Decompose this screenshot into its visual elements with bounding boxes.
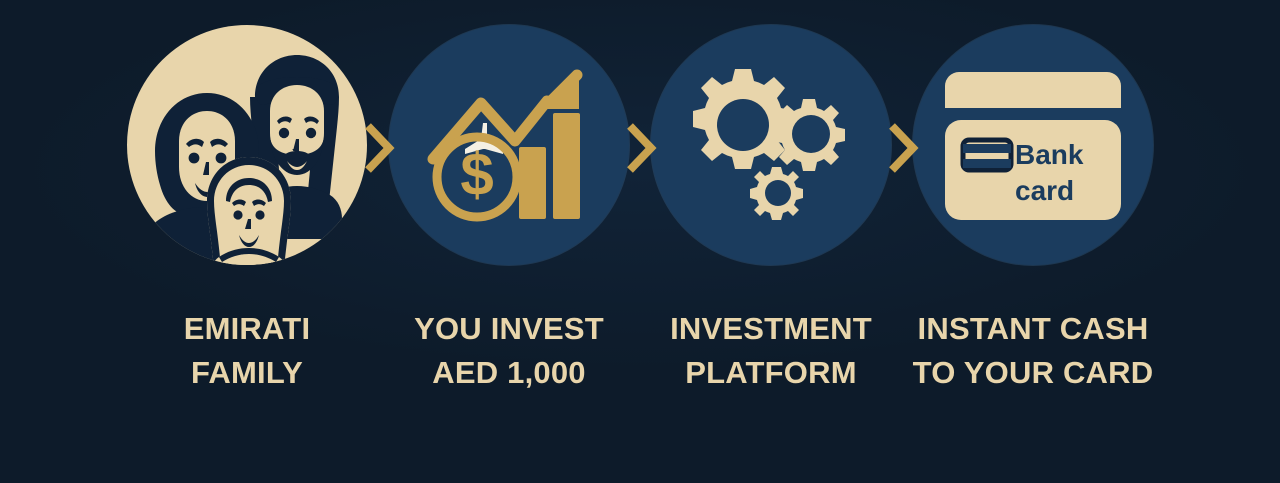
step-icon-circle-gears [651,25,891,265]
step-you-invest: $ YOU INVEST AED 1,000 [378,0,640,395]
card-stripe-glyph [963,140,1011,170]
svg-text:$: $ [460,141,493,208]
growth-chart-dollar-icon: $ [419,55,599,235]
bank-card-line2: card [1015,175,1074,206]
step-emirati-family: EMIRATI FAMILY [116,0,378,395]
step-investment-platform: INVESTMENT PLATFORM [640,0,902,395]
step-caption-investment-platform: INVESTMENT PLATFORM [670,307,872,395]
family-icon [127,25,367,265]
step-instant-cash: Bank card INSTANT CASH TO YOUR CARD [902,0,1164,395]
process-flow: EMIRATI FAMILY $ [0,0,1280,483]
step-icon-circle-family [127,25,367,265]
chevron-right-icon [885,122,919,174]
step-caption-you-invest: YOU INVEST AED 1,000 [414,307,604,395]
bank-card-line1: Bank [1015,139,1084,170]
gears-icon [681,55,861,235]
step-caption-emirati-family: EMIRATI FAMILY [184,307,311,395]
bank-card-icon: Bank card [935,60,1131,230]
chevron-right-icon [623,122,657,174]
step-icon-circle-bank-card: Bank card [913,25,1153,265]
step-icon-circle-invest: $ [389,25,629,265]
step-caption-instant-cash: INSTANT CASH TO YOUR CARD [913,307,1154,395]
chevron-right-icon [361,122,395,174]
